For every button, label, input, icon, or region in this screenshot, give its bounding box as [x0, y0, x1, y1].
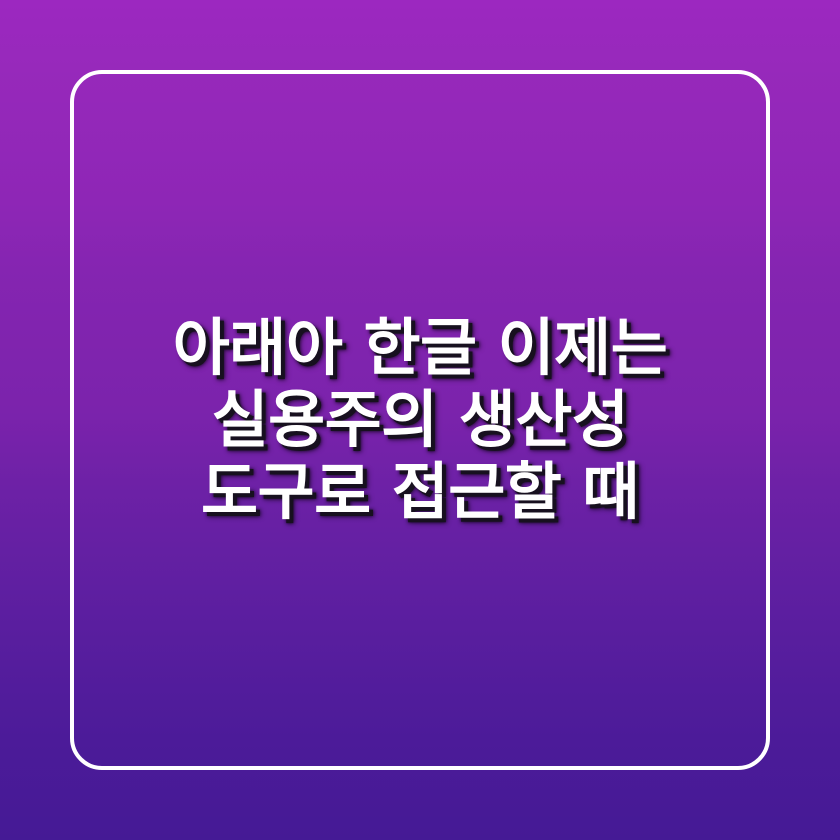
headline-line-2: 실용주의 생산성 [212, 384, 629, 456]
title-card: 아래아 한글 이제는 실용주의 생산성 도구로 접근할 때 [0, 0, 840, 840]
headline-line-3: 도구로 접근할 때 [201, 456, 639, 528]
headline-line-1: 아래아 한글 이제는 [173, 312, 668, 384]
headline-block: 아래아 한글 이제는 실용주의 생산성 도구로 접근할 때 [0, 0, 840, 840]
